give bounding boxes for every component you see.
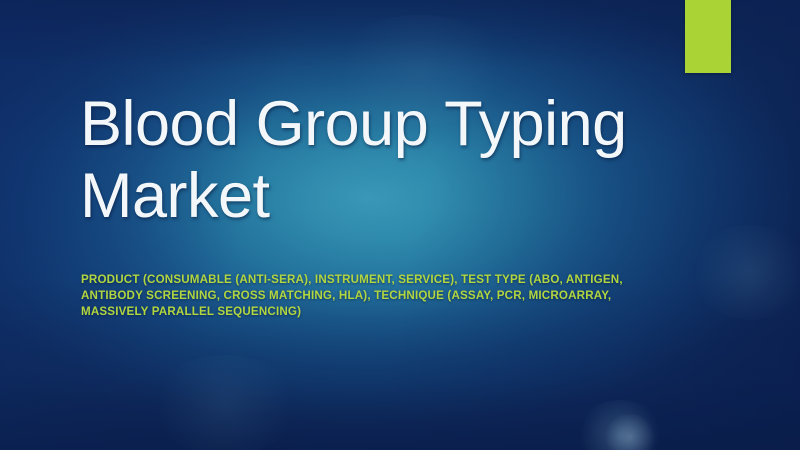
green-accent-rectangle xyxy=(685,0,731,73)
slide-title: Blood Group Typing Market xyxy=(80,88,720,232)
title-slide: Blood Group Typing Market PRODUCT (CONSU… xyxy=(0,0,800,450)
slide-subtitle: PRODUCT (CONSUMABLE (ANTI-SERA), INSTRUM… xyxy=(81,272,641,320)
